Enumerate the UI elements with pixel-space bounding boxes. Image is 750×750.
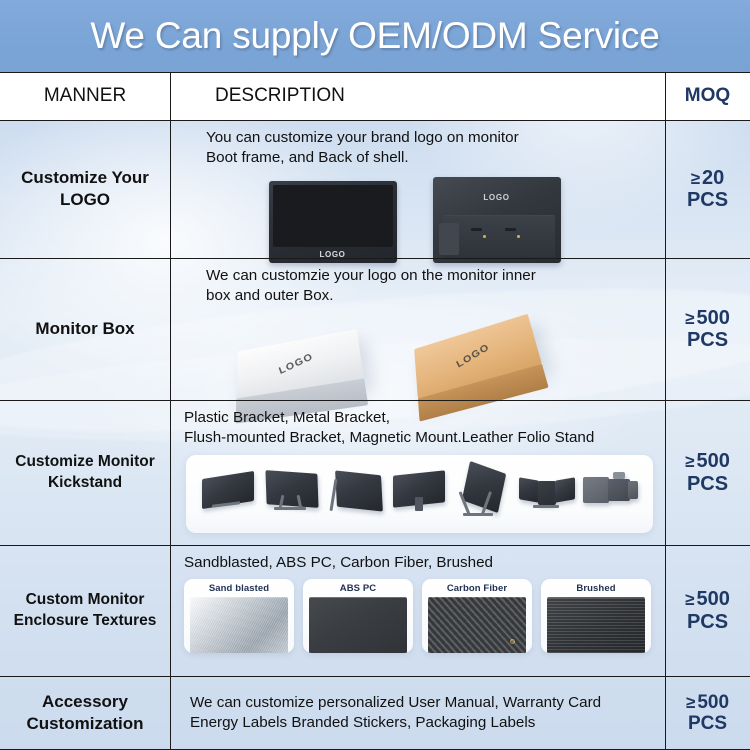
- row-manner-cell: Monitor Box: [0, 258, 170, 400]
- row-moq-cell: ≥ 500 PCS: [665, 400, 750, 545]
- moq-value-customize-logo: ≥ 20 PCS: [665, 120, 750, 258]
- description-text: We can customize personalized User Manua…: [190, 693, 601, 734]
- moq-value-monitor-box: ≥ 500 PCS: [665, 258, 750, 400]
- monitor-led-icon: [483, 235, 486, 238]
- kickstand-image-panel: [186, 455, 653, 533]
- row-moq-cell: ≥ 500 PCS: [665, 676, 750, 750]
- description-content-kickstand: Plastic Bracket, Metal Bracket, Flush-mo…: [170, 400, 665, 545]
- column-divider-moq: [665, 545, 666, 676]
- moq-value-enclosure-textures: ≥ 500 PCS: [665, 545, 750, 676]
- monitor-back-foot: [439, 223, 459, 255]
- column-header-moq: MOQ: [665, 72, 750, 120]
- row-manner-cell: Customize Your LOGO: [0, 120, 170, 258]
- moq-quantity: 500: [697, 692, 729, 713]
- outer-box-image: LOGO: [414, 314, 542, 399]
- monitor-image-group: LOGO LOGO: [184, 177, 665, 263]
- greater-equal-icon: ≥: [685, 590, 694, 609]
- column-divider-manner: [170, 545, 171, 676]
- monitor-back-panel: [443, 215, 555, 258]
- texture-label: Sand blasted: [184, 583, 294, 594]
- table-row-enclosure-textures: Custom Monitor Enclosure Textures Sandbl…: [0, 545, 750, 676]
- table-row-accessory-customization: Accessory Customization We can customize…: [0, 676, 750, 750]
- inner-box-image: LOGO: [236, 329, 364, 399]
- page-banner: We Can supply OEM/ODM Service: [0, 0, 750, 72]
- column-divider-moq: [665, 72, 666, 120]
- greater-equal-icon: ≥: [691, 169, 700, 188]
- column-divider-moq: [665, 120, 666, 258]
- column-divider-manner: [170, 120, 171, 258]
- description-text: Plastic Bracket, Metal Bracket, Flush-mo…: [184, 408, 665, 449]
- moq-unit: PCS: [687, 473, 728, 495]
- moq-quantity: 500: [696, 450, 729, 472]
- table-top-border: [0, 72, 750, 73]
- moq-value-kickstand: ≥ 500 PCS: [665, 400, 750, 545]
- kickstand-variant-image: [200, 467, 256, 525]
- column-header-description: DESCRIPTION: [170, 72, 665, 120]
- row-manner-cell: Custom Monitor Enclosure Textures: [0, 545, 170, 676]
- texture-card-abs-pc: ABS PC: [303, 579, 413, 653]
- row-description-cell: We can customzie your logo on the monito…: [170, 258, 665, 400]
- moq-unit: PCS: [688, 713, 727, 734]
- column-divider-manner: [170, 676, 171, 750]
- texture-label: Carbon Fiber: [422, 583, 532, 594]
- description-content-customize-logo: You can customize your brand logo on mon…: [170, 120, 665, 258]
- manner-label-enclosure-textures: Custom Monitor Enclosure Textures: [0, 545, 170, 676]
- row-manner-cell: Accessory Customization: [0, 676, 170, 750]
- description-text: You can customize your brand logo on mon…: [184, 128, 665, 169]
- moq-quantity-line: ≥ 500: [685, 450, 730, 472]
- texture-label: Brushed: [541, 583, 651, 594]
- description-text: Sandblasted, ABS PC, Carbon Fiber, Brush…: [184, 553, 665, 573]
- kickstand-variant-image: [328, 467, 384, 525]
- monitor-port-icon: [471, 228, 482, 231]
- moq-quantity-line: ≥ 500: [685, 588, 730, 610]
- texture-swatch-abs-pc: [309, 597, 407, 653]
- texture-swatch-brushed: [547, 597, 645, 653]
- screw-hole-icon: [510, 639, 515, 644]
- greater-equal-icon: ≥: [686, 693, 695, 712]
- description-text: We can customzie your logo on the monito…: [184, 266, 665, 307]
- moq-unit: PCS: [687, 189, 728, 211]
- kickstand-variant-image: [583, 467, 639, 525]
- column-divider-moq: [665, 258, 666, 400]
- monitor-back-logo-text: LOGO: [433, 193, 561, 202]
- row-manner-cell: Customize Monitor Kickstand: [0, 400, 170, 545]
- column-divider-moq: [665, 400, 666, 545]
- oem-service-table: MANNER DESCRIPTION MOQ Customize Your LO…: [0, 72, 750, 750]
- moq-quantity-line: ≥ 20: [691, 167, 725, 189]
- row-description-cell: Plastic Bracket, Metal Bracket, Flush-mo…: [170, 400, 665, 545]
- texture-swatch-group: Sand blasted ABS PC Carbon Fiber: [184, 579, 665, 653]
- texture-card-sand-blasted: Sand blasted: [184, 579, 294, 653]
- outer-box-logo-text: LOGO: [455, 342, 492, 370]
- row-description-cell: You can customize your brand logo on mon…: [170, 120, 665, 258]
- column-divider-moq: [665, 676, 666, 750]
- moq-unit: PCS: [687, 611, 728, 633]
- description-content-accessory-customization: We can customize personalized User Manua…: [170, 676, 665, 750]
- page-title: We Can supply OEM/ODM Service: [90, 15, 659, 57]
- kickstand-variant-image: [455, 467, 511, 525]
- oem-odm-service-table-page: We Can supply OEM/ODM Service MANNER DES…: [0, 0, 750, 750]
- manner-label-customize-logo: Customize Your LOGO: [0, 120, 170, 258]
- row-moq-cell: ≥ 500 PCS: [665, 545, 750, 676]
- description-content-enclosure-textures: Sandblasted, ABS PC, Carbon Fiber, Brush…: [170, 545, 665, 676]
- texture-swatch-sand-blasted: [190, 597, 288, 653]
- greater-equal-icon: ≥: [685, 452, 694, 471]
- texture-card-carbon-fiber: Carbon Fiber: [422, 579, 532, 653]
- column-header-description-label: DESCRIPTION: [215, 85, 345, 107]
- moq-quantity: 500: [696, 307, 729, 329]
- moq-quantity-line: ≥ 500: [685, 307, 730, 329]
- row-moq-cell: ≥ 20 PCS: [665, 120, 750, 258]
- column-header-manner: MANNER: [0, 72, 170, 120]
- monitor-port-icon: [505, 228, 516, 231]
- greater-equal-icon: ≥: [685, 309, 694, 328]
- texture-swatch-carbon-fiber: [428, 597, 526, 653]
- texture-card-brushed: Brushed: [541, 579, 651, 653]
- moq-quantity-line: ≥ 500: [686, 692, 729, 713]
- moq-quantity: 500: [696, 588, 729, 610]
- description-content-monitor-box: We can customzie your logo on the monito…: [170, 258, 665, 400]
- kickstand-variant-image: [519, 467, 575, 525]
- row-moq-cell: ≥ 500 PCS: [665, 258, 750, 400]
- monitor-back-image: LOGO: [433, 177, 561, 263]
- table-row-customize-logo: Customize Your LOGO You can customize yo…: [0, 120, 750, 258]
- monitor-screen: [273, 185, 393, 247]
- column-header-manner-label: MANNER: [44, 85, 126, 107]
- column-header-moq-label: MOQ: [685, 85, 730, 107]
- kickstand-variant-image: [264, 467, 320, 525]
- monitor-led-icon: [517, 235, 520, 238]
- table-column-header-row: MANNER DESCRIPTION MOQ: [0, 72, 750, 120]
- table-row-kickstand: Customize Monitor Kickstand Plastic Brac…: [0, 400, 750, 545]
- kickstand-variant-image: [391, 467, 447, 525]
- moq-value-accessory-customization: ≥ 500 PCS: [665, 676, 750, 750]
- column-divider-manner: [170, 258, 171, 400]
- table-row-monitor-box: Monitor Box We can customzie your logo o…: [0, 258, 750, 400]
- column-divider-manner: [170, 72, 171, 120]
- texture-label: ABS PC: [303, 583, 413, 594]
- manner-label-accessory-customization: Accessory Customization: [0, 676, 170, 750]
- column-divider-manner: [170, 400, 171, 545]
- inner-box-logo-text: LOGO: [277, 351, 315, 376]
- manner-label-kickstand: Customize Monitor Kickstand: [0, 400, 170, 545]
- moq-unit: PCS: [687, 329, 728, 351]
- moq-quantity: 20: [702, 167, 724, 189]
- row-description-cell: We can customize personalized User Manua…: [170, 676, 665, 750]
- row-description-cell: Sandblasted, ABS PC, Carbon Fiber, Brush…: [170, 545, 665, 676]
- manner-label-monitor-box: Monitor Box: [0, 258, 170, 400]
- monitor-front-image: LOGO: [269, 181, 397, 263]
